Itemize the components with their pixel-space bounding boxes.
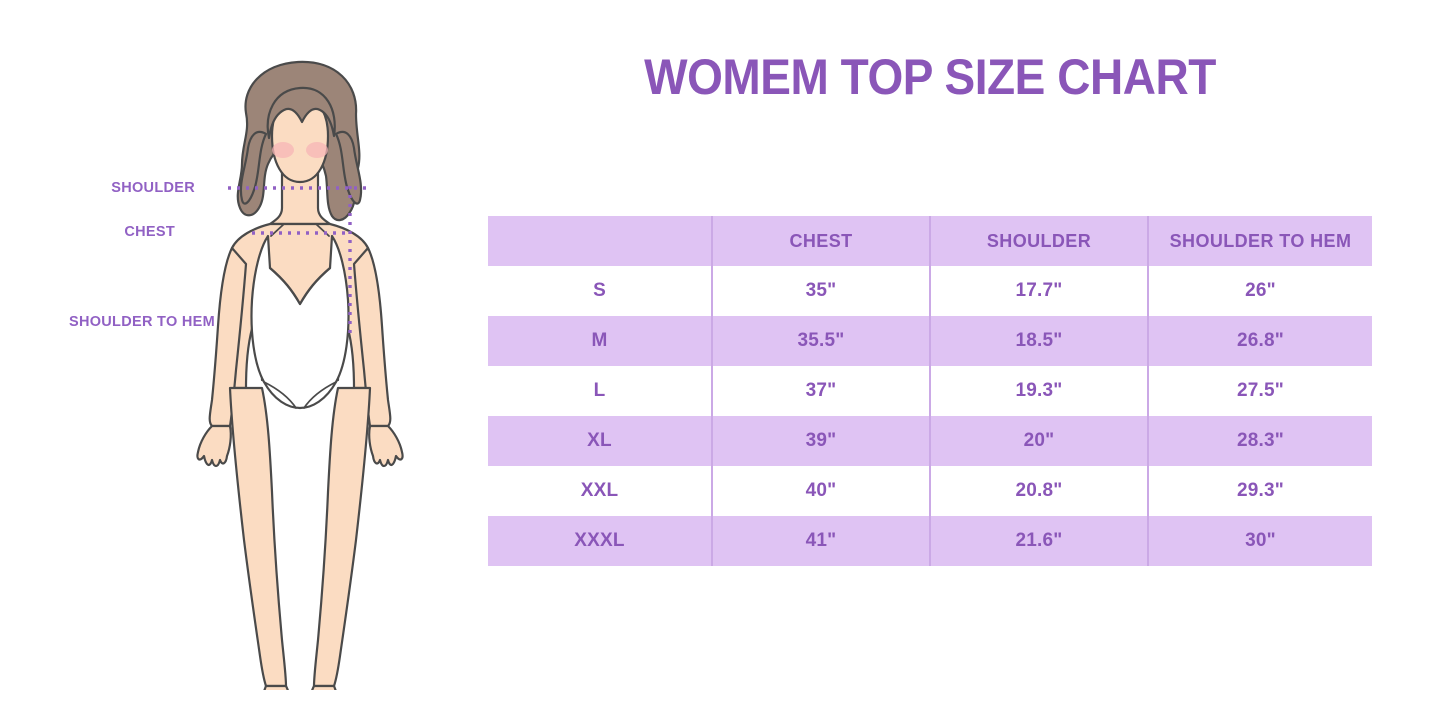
- cell-size: XXXL: [488, 516, 712, 566]
- table-row: XL 39" 20" 28.3": [488, 416, 1372, 466]
- label-chest: CHEST: [0, 224, 175, 240]
- table-header-row: CHEST SHOULDER SHOULDER TO HEM: [488, 216, 1372, 266]
- table-row: L 37" 19.3" 27.5": [488, 366, 1372, 416]
- cell-chest: 41": [712, 516, 930, 566]
- cell-size: S: [488, 266, 712, 316]
- cell-size: XXL: [488, 466, 712, 516]
- cell-shoulder-to-hem: 30": [1148, 516, 1372, 566]
- right-foot-shape: [309, 686, 339, 690]
- cell-size: L: [488, 366, 712, 416]
- cell-shoulder-to-hem: 28.3": [1148, 416, 1372, 466]
- cell-chest: 37": [712, 366, 930, 416]
- cell-size: XL: [488, 416, 712, 466]
- table-row: M 35.5" 18.5" 26.8": [488, 316, 1372, 366]
- page-title: WOMEM TOP SIZE CHART: [523, 48, 1336, 106]
- column-header-shoulder: SHOULDER: [930, 216, 1148, 266]
- cell-shoulder: 18.5": [930, 316, 1148, 366]
- left-leg-shape: [230, 388, 286, 686]
- size-chart-page: WOMEM TOP SIZE CHART: [0, 0, 1445, 723]
- blush-left: [272, 142, 294, 158]
- column-header-chest: CHEST: [712, 216, 930, 266]
- cell-shoulder: 20": [930, 416, 1148, 466]
- female-body-illustration: [150, 40, 450, 690]
- right-hand-shape: [369, 426, 402, 466]
- cell-shoulder: 21.6": [930, 516, 1148, 566]
- cell-shoulder-to-hem: 26": [1148, 266, 1372, 316]
- left-foot-shape: [261, 686, 291, 690]
- column-header-shoulder-to-hem: SHOULDER TO HEM: [1148, 216, 1372, 266]
- blush-right: [306, 142, 328, 158]
- cell-chest: 35": [712, 266, 930, 316]
- size-chart-table: CHEST SHOULDER SHOULDER TO HEM S 35" 17.…: [488, 216, 1372, 566]
- table-row: XXXL 41" 21.6" 30": [488, 516, 1372, 566]
- table-row: S 35" 17.7" 26": [488, 266, 1372, 316]
- cell-shoulder: 17.7": [930, 266, 1148, 316]
- table-row: XXL 40" 20.8" 29.3": [488, 466, 1372, 516]
- right-leg-shape: [314, 388, 370, 686]
- label-shoulder: SHOULDER: [0, 180, 195, 196]
- cell-chest: 39": [712, 416, 930, 466]
- cell-size: M: [488, 316, 712, 366]
- left-hand-shape: [197, 426, 230, 466]
- cell-chest: 35.5": [712, 316, 930, 366]
- cell-chest: 40": [712, 466, 930, 516]
- cell-shoulder: 19.3": [930, 366, 1148, 416]
- column-header-size: [488, 216, 712, 266]
- cell-shoulder-to-hem: 27.5": [1148, 366, 1372, 416]
- label-shoulder-to-hem: SHOULDER TO HEM: [0, 314, 215, 330]
- cell-shoulder-to-hem: 29.3": [1148, 466, 1372, 516]
- cell-shoulder: 20.8": [930, 466, 1148, 516]
- cell-shoulder-to-hem: 26.8": [1148, 316, 1372, 366]
